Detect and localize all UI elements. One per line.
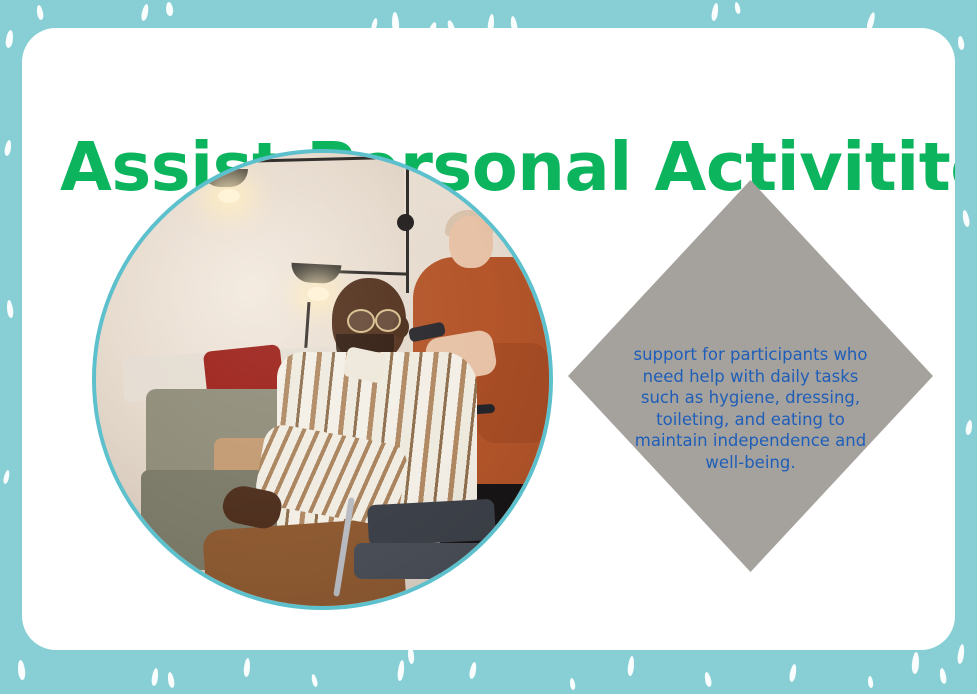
petal-icon xyxy=(17,660,26,681)
photo-vignette xyxy=(96,153,549,606)
petal-icon xyxy=(468,662,477,680)
petal-icon xyxy=(243,658,251,677)
petal-icon xyxy=(5,30,14,49)
slide-canvas: Assist Personal Activitites xyxy=(0,0,977,694)
petal-icon xyxy=(165,2,173,17)
photo-scene xyxy=(96,153,549,606)
petal-icon xyxy=(961,210,970,228)
petal-icon xyxy=(788,664,797,683)
petal-icon xyxy=(911,652,920,674)
petal-icon xyxy=(4,140,13,157)
petal-icon xyxy=(397,660,406,682)
petal-icon xyxy=(704,672,713,688)
petal-icon xyxy=(867,676,873,689)
petal-icon xyxy=(311,674,319,688)
petal-icon xyxy=(965,420,973,436)
petal-icon xyxy=(734,2,741,15)
petal-icon xyxy=(6,300,14,319)
petal-icon xyxy=(957,644,966,665)
petal-icon xyxy=(939,668,948,685)
caption-text: support for participants who need help w… xyxy=(628,344,874,473)
caption-diamond: support for participants who need help w… xyxy=(568,180,933,572)
petal-icon xyxy=(167,672,176,689)
content-card: Assist Personal Activitites xyxy=(22,28,955,650)
petal-icon xyxy=(151,668,159,687)
petal-icon xyxy=(140,4,149,22)
petal-icon xyxy=(569,678,576,691)
petal-icon xyxy=(36,5,45,21)
petal-icon xyxy=(957,36,965,51)
participant-photo xyxy=(92,149,553,610)
petal-icon xyxy=(627,656,635,677)
petal-icon xyxy=(2,470,10,485)
petal-icon xyxy=(711,3,720,22)
